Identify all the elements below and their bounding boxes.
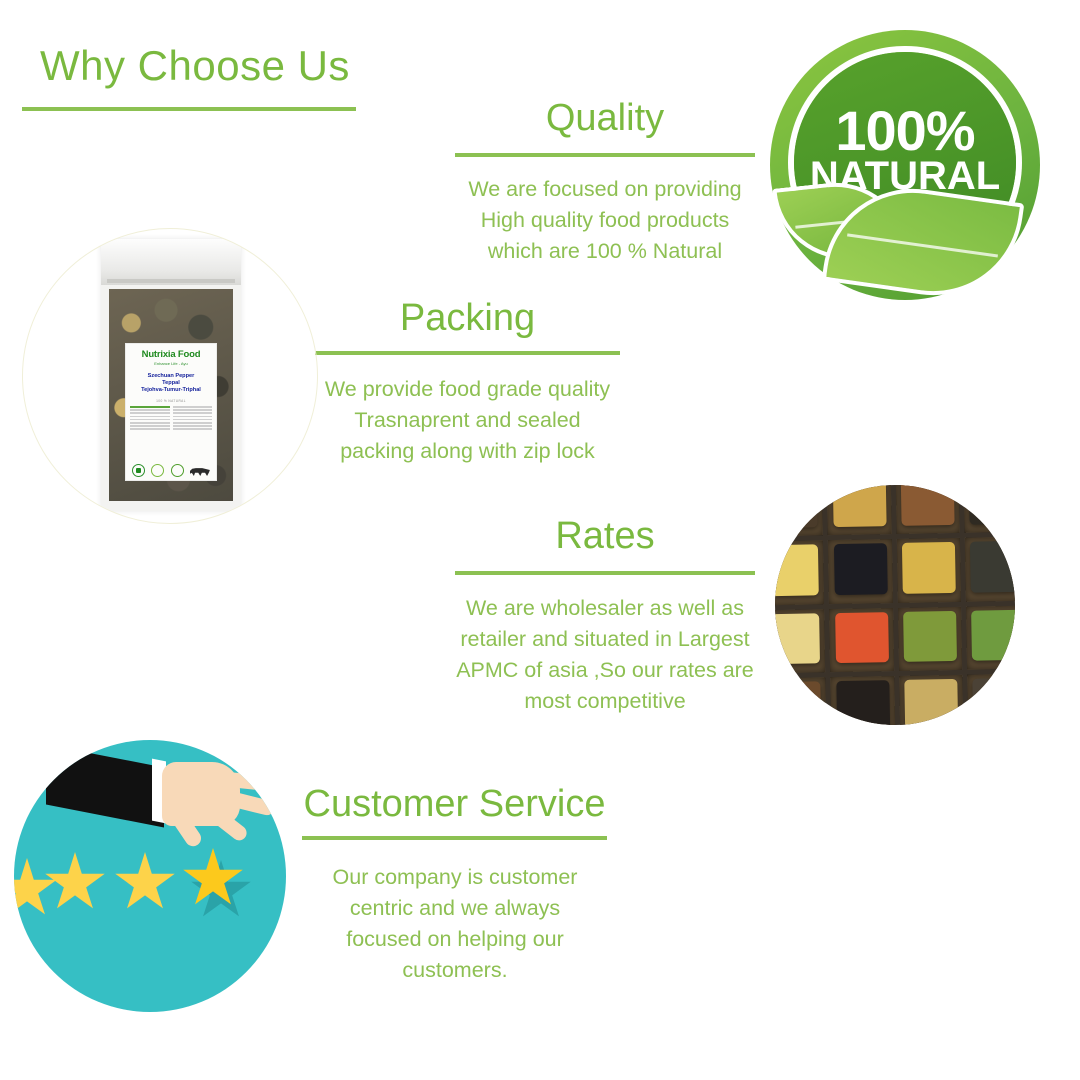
spice-bin [898, 606, 963, 671]
body-line: We are focused on providing [440, 174, 770, 205]
body-line: which are 100 % Natural [440, 236, 770, 267]
star-icon [114, 852, 176, 914]
section-underline-rates [455, 571, 755, 575]
body-line: most competitive [440, 686, 770, 717]
spice-bin [896, 538, 961, 603]
bull-icon [190, 465, 210, 476]
body-line: High quality food products [440, 205, 770, 236]
label-fineprint-column [130, 406, 170, 432]
body-line: focused on helping our [300, 924, 610, 955]
body-line: packing along with zip lock [300, 436, 635, 467]
spice-bin [966, 605, 1015, 670]
body-line: centric and we always [300, 893, 610, 924]
body-line: Trasnaprent and sealed [300, 405, 635, 436]
spice-bin [899, 675, 964, 725]
section-heading-rates: Rates [455, 515, 755, 558]
body-line: customers. [300, 955, 610, 986]
spice-bin [828, 539, 893, 604]
veg-mark-icon [132, 464, 145, 477]
section-underline-customer-service [302, 836, 607, 840]
spice-market-photo [775, 485, 1015, 725]
hand-placing-star-rating-icon [14, 740, 286, 1012]
body-line: We provide food grade quality [300, 374, 635, 405]
section-body-packing: We provide food grade quality Trasnapren… [300, 374, 635, 467]
pouch-bag: Nutrixia Food Enhance Life - Ayu Szechua… [101, 239, 241, 511]
page-title-underline [22, 107, 356, 111]
label-fineprint-column [173, 406, 213, 432]
spice-bin [964, 485, 1015, 533]
section-underline-quality [455, 153, 755, 157]
body-line: We are wholesaler as well as [440, 593, 770, 624]
label-fineprint [126, 406, 216, 432]
spice-bin [895, 485, 960, 534]
spice-bin [775, 609, 825, 674]
product-name-line: Teppal [126, 380, 216, 387]
section-heading-packing: Packing [315, 297, 620, 340]
brand-tagline: Enhance Life - Ayu [126, 361, 216, 366]
spice-bin [830, 676, 895, 725]
spice-bin [775, 540, 824, 605]
zip-lock-strip [107, 279, 236, 283]
pouch-label: Nutrixia Food Enhance Life - Ayu Szechua… [125, 343, 217, 481]
spice-bin [775, 677, 826, 725]
section-body-quality: We are focused on providing High quality… [440, 174, 770, 267]
section-body-customer-service: Our company is customer centric and we a… [300, 862, 610, 986]
suit-sleeve [46, 745, 164, 828]
star-icon [14, 858, 58, 920]
section-body-rates: We are wholesaler as well as retailer an… [440, 593, 770, 717]
section-underline-packing [315, 351, 620, 355]
body-line: Our company is customer [300, 862, 610, 893]
product-pouch-photo: Nutrixia Food Enhance Life - Ayu Szechua… [22, 228, 318, 524]
label-natural-line: 100 % NATURAL [126, 399, 216, 403]
brand-name: Nutrixia Food [126, 349, 216, 360]
star-icon [44, 852, 106, 914]
section-heading-quality: Quality [455, 97, 755, 140]
spice-bin [967, 674, 1015, 725]
body-line: APMC of asia ,So our rates are [440, 655, 770, 686]
recycle-icon [171, 464, 184, 477]
body-line: retailer and situated in Largest [440, 624, 770, 655]
spice-bin [827, 485, 892, 535]
page-title: Why Choose Us [40, 42, 350, 90]
badge-100-percent-natural: 100% NATURAL [770, 30, 1040, 300]
spice-bin [829, 608, 894, 673]
product-name-line: Tejohva-Tumur-Triphal [126, 387, 216, 394]
spice-bin [775, 485, 823, 536]
spice-bin-grid [775, 485, 1015, 725]
product-name: Szechuan Pepper Teppal Tejohva-Tumur-Tri… [126, 373, 216, 394]
fssai-icon [151, 464, 164, 477]
product-name-line: Szechuan Pepper [126, 373, 216, 380]
certification-marks [126, 464, 216, 477]
spice-bin [965, 537, 1015, 602]
section-heading-customer-service: Customer Service [302, 783, 607, 826]
